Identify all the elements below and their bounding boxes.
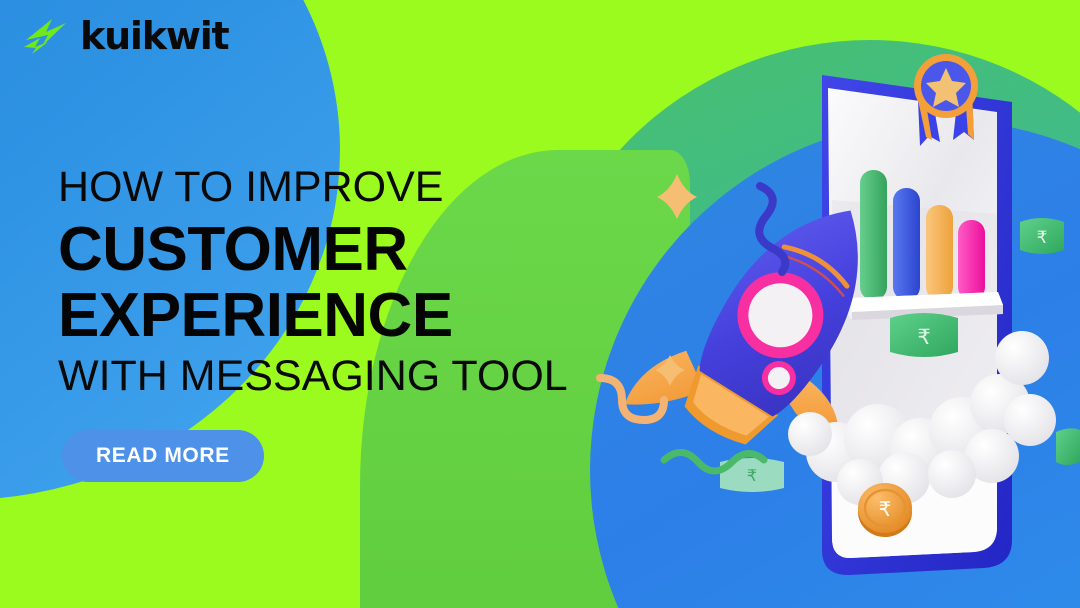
money-note-icon: ₹ [1020, 218, 1064, 254]
headline-line-3: EXPERIENCE [58, 283, 618, 349]
headline-block: HOW TO IMPROVE CUSTOMER EXPERIENCE WITH … [58, 166, 618, 400]
coin-icon: ₹ [858, 483, 912, 537]
marketing-banner: kuikwit HOW TO IMPROVE CUSTOMER EXPERIEN… [0, 0, 1080, 608]
chart-bar [860, 170, 887, 300]
read-more-button[interactable]: READ MORE [62, 430, 264, 482]
hero-illustration: ₹ ₹ ₹ ₹ [560, 0, 1080, 608]
headline-line-4: WITH MESSAGING TOOL [58, 354, 618, 399]
headline-line-1: HOW TO IMPROVE [58, 166, 618, 209]
chart-bar [958, 220, 985, 300]
headline-line-2: CUSTOMER [58, 217, 618, 283]
sparkle-star-icon [657, 174, 697, 219]
chart-bar [893, 188, 920, 300]
brand-logo[interactable]: kuikwit [22, 14, 229, 58]
money-note-icon: ₹ [890, 313, 958, 357]
svg-text:₹: ₹ [747, 466, 757, 485]
chart-bar [926, 205, 953, 300]
svg-text:₹: ₹ [1037, 228, 1048, 248]
svg-text:₹: ₹ [879, 497, 892, 521]
lightning-bolt-arrow-icon [22, 14, 70, 58]
money-note-icon [1056, 428, 1080, 465]
brand-wordmark: kuikwit [80, 17, 229, 55]
svg-text:₹: ₹ [917, 325, 930, 349]
